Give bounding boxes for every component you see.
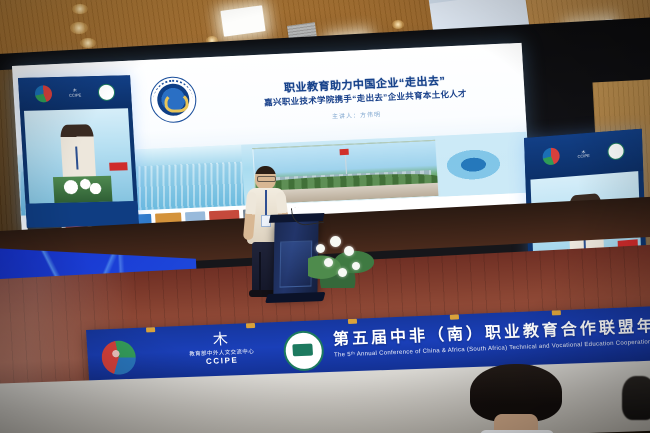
blue-eye-graphic xyxy=(435,132,530,196)
banner-clip xyxy=(146,327,155,332)
banner-clip xyxy=(552,310,561,315)
lanyard xyxy=(265,190,267,216)
banner-clip xyxy=(246,323,255,328)
glasses-icon xyxy=(257,176,276,182)
green-institution-seal-icon xyxy=(282,330,324,372)
spot-3 xyxy=(80,38,96,48)
feed-header-left: 木CCIPE xyxy=(18,75,132,111)
ccipe-center-mark: 木 教育部中外人文交流中心 CCIPE xyxy=(172,330,270,367)
ccipe-rose-logo-icon xyxy=(101,340,137,375)
banner-clip xyxy=(348,319,357,324)
spot-5 xyxy=(392,20,404,29)
blurred-foreground-object xyxy=(622,376,650,420)
floral-arrangement xyxy=(308,218,374,288)
ccipe-rose-logo-icon xyxy=(35,85,53,102)
side-screen-left[interactable]: 木CCIPE xyxy=(18,75,139,227)
camera-feed-left: 木CCIPE xyxy=(18,75,139,227)
banner-text-block: 第五届中非（南）职业教育合作联盟年会暨中非职业教 The 5ᵗʰ Annual … xyxy=(332,311,650,358)
green-seal-logo-icon xyxy=(97,84,115,101)
feed-flowers xyxy=(53,176,112,203)
spot-1 xyxy=(72,4,88,14)
feed-body-left xyxy=(24,108,133,203)
banner-clip xyxy=(450,314,459,319)
ccipe-wordmark: 木CCIPE xyxy=(69,89,82,98)
spot-2 xyxy=(70,22,88,34)
audience-head-back-view xyxy=(470,364,562,433)
ccipe-wordmark: 木CCIPE xyxy=(577,149,590,159)
ccipe-rose-logo-icon xyxy=(542,148,560,166)
green-seal-logo-icon xyxy=(607,143,625,161)
feed-red-logo xyxy=(109,162,128,171)
conference-hall-photo: 职业教育助力中国企业“走出去” 嘉兴职业技术学院携手“走出去”企业共育本土化人才… xyxy=(0,0,650,433)
